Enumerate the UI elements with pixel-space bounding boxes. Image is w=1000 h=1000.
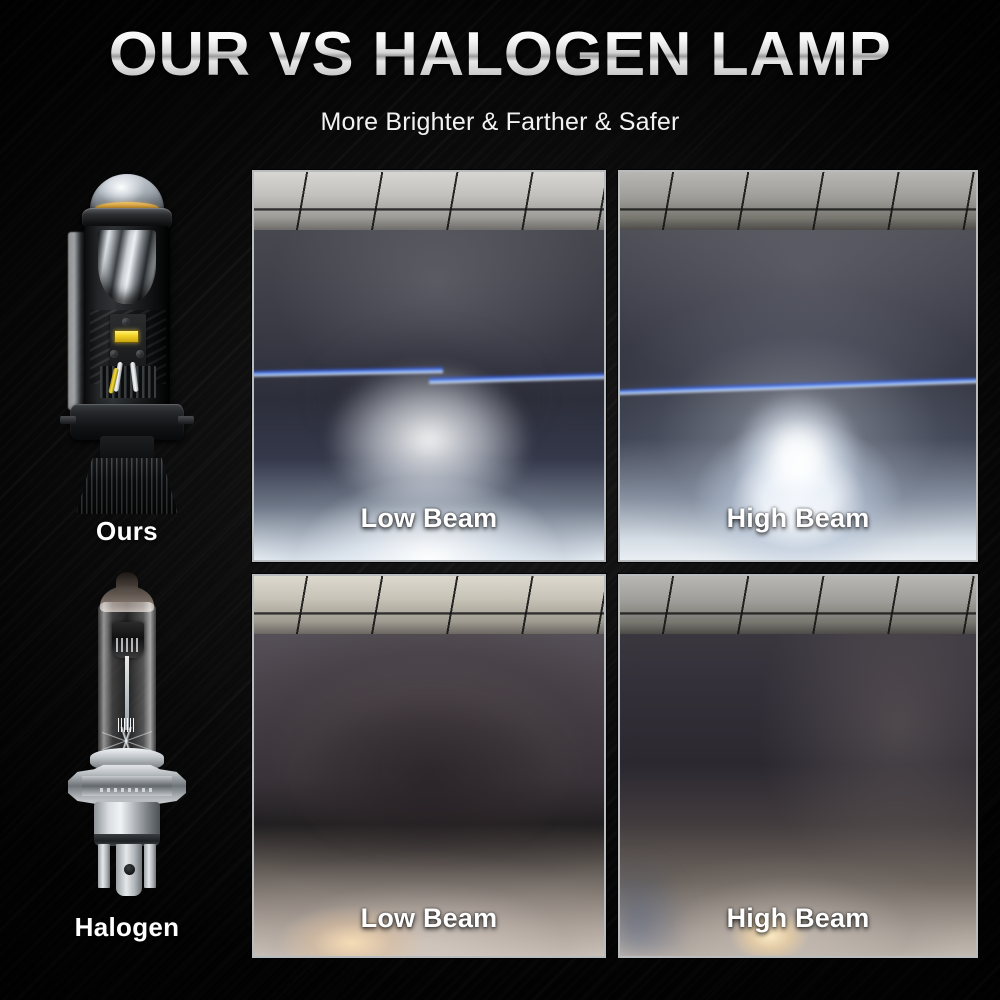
ceiling-grid-lines	[254, 172, 604, 230]
halogen-low-beam-scene	[254, 576, 604, 956]
led-bulb-image	[12, 168, 242, 516]
product-ours: Ours	[12, 168, 242, 564]
page-subtitle: More Brighter & Farther & Safer	[0, 108, 1000, 137]
ceiling-grid-lines	[620, 172, 976, 230]
halogen-low-beam-shadow-oval	[268, 675, 590, 873]
halogen-terminal-right	[144, 844, 156, 888]
led-chrome-reflector	[98, 230, 156, 304]
halogen-flange-band	[82, 776, 172, 796]
halogen-bulb-icon	[62, 572, 192, 902]
halogen-low-beam-ceiling	[254, 576, 604, 634]
comparison-grid: Low Beam High Beam Low Be	[252, 170, 978, 958]
beam-label-led-high: High Beam	[620, 503, 976, 534]
halogen-terminal-hole	[124, 864, 135, 875]
halogen-terminal-left	[98, 844, 110, 888]
led-h4-base	[70, 404, 184, 440]
product-label-ours: Ours	[12, 516, 242, 547]
led-cooling-fins	[100, 366, 156, 398]
beam-label-halogen-high: High Beam	[620, 903, 976, 934]
halogen-high-beam-scene	[620, 576, 976, 956]
led-screw-top	[122, 318, 130, 326]
led-base-tab-right	[178, 416, 194, 424]
header: OUR VS HALOGEN LAMP More Brighter & Fart…	[0, 24, 1000, 137]
product-label-halogen: Halogen	[12, 912, 242, 943]
beam-label-led-low: Low Beam	[254, 503, 604, 534]
ceiling-grid-lines	[254, 576, 604, 634]
product-column: Ours	[12, 168, 242, 960]
led-high-beam-hotspot	[713, 347, 884, 525]
beam-label-halogen-low: Low Beam	[254, 903, 604, 934]
led-low-beam-ceiling	[254, 172, 604, 230]
led-projector-bulb-icon	[62, 174, 192, 514]
led-high-beam-scene	[620, 172, 976, 560]
led-low-beam-scene	[254, 172, 604, 560]
infographic-page: OUR VS HALOGEN LAMP More Brighter & Fart…	[0, 0, 1000, 1000]
halogen-bulb-image	[12, 564, 242, 912]
led-housing	[84, 226, 170, 410]
halogen-filament-shield	[112, 622, 144, 658]
led-screw-right	[136, 350, 144, 358]
photo-cell-led-low-beam[interactable]: Low Beam	[252, 170, 606, 562]
product-halogen: Halogen	[12, 564, 242, 960]
led-base-tab-left	[60, 416, 76, 424]
page-title: OUR VS HALOGEN LAMP	[0, 24, 1000, 86]
led-screw-left	[110, 350, 118, 358]
halogen-high-beam-ceiling	[620, 576, 976, 634]
photo-cell-halogen-high-beam[interactable]: High Beam	[618, 574, 978, 958]
led-chip	[114, 330, 139, 343]
led-high-beam-ceiling	[620, 172, 976, 230]
ceiling-grid-lines	[620, 576, 976, 634]
photo-cell-led-high-beam[interactable]: High Beam	[618, 170, 978, 562]
photo-cell-halogen-low-beam[interactable]: Low Beam	[252, 574, 606, 958]
led-heatsink	[76, 458, 178, 514]
